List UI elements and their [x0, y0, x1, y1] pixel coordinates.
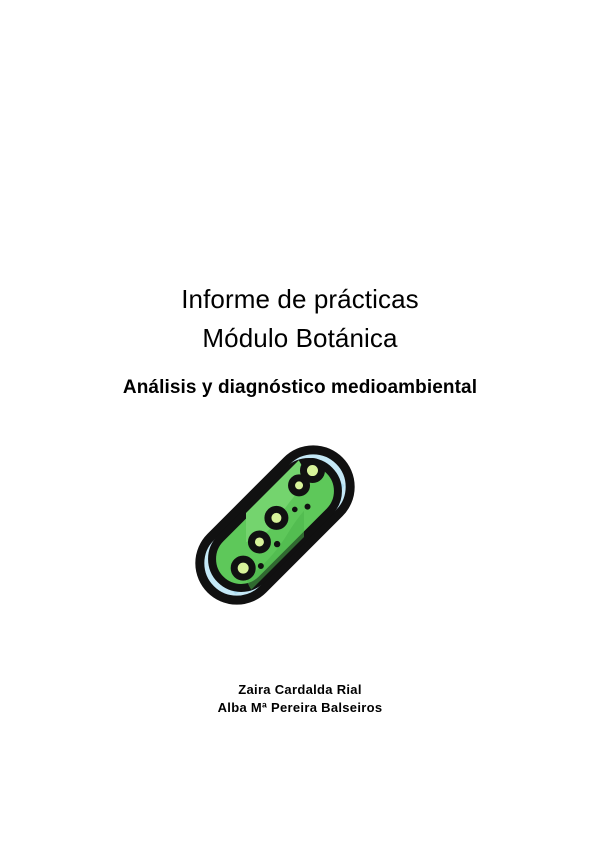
author-name-1: Zaira Cardalda Rial — [0, 681, 600, 699]
title-line-1: Informe de prácticas — [0, 280, 600, 319]
page-title: Informe de prácticas Módulo Botánica — [0, 280, 600, 358]
author-block: Zaira Cardalda Rial Alba Mª Pereira Bals… — [0, 681, 600, 717]
pea-pod-cells-icon — [168, 418, 382, 632]
document-page: Informe de prácticas Módulo Botánica Aná… — [0, 0, 600, 848]
page-subtitle: Análisis y diagnóstico medioambiental — [0, 377, 600, 399]
author-name-2: Alba Mª Pereira Balseiros — [0, 699, 600, 717]
title-line-2: Módulo Botánica — [0, 319, 600, 358]
